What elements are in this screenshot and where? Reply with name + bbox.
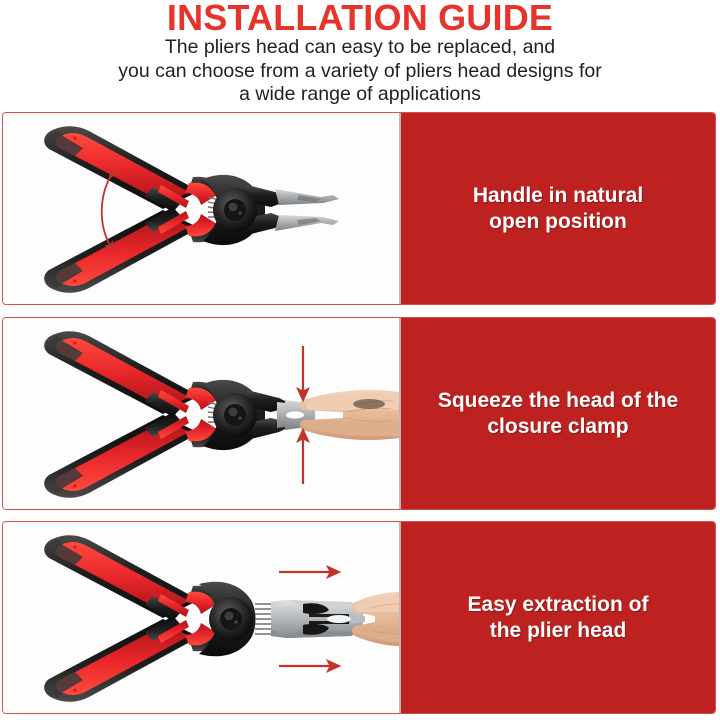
- caption-line-1: Easy extraction of: [468, 592, 649, 618]
- subtitle-line-3: a wide range of applications: [0, 83, 720, 107]
- step-3-caption-block: Easy extraction of the plier head: [399, 522, 715, 713]
- step-1-photo: [3, 113, 399, 304]
- step-2-caption-text: Squeeze the head of the closure clamp: [428, 388, 688, 440]
- step-3-caption-text: Easy extraction of the plier head: [458, 592, 659, 644]
- installation-guide-page: INSTALLATION GUIDE The pliers head can e…: [0, 0, 720, 720]
- detached-plier-head: [271, 600, 365, 638]
- step-2-caption-block: Squeeze the head of the closure clamp: [399, 318, 715, 509]
- caption-line-2: the plier head: [468, 618, 649, 644]
- lower-handle: [44, 412, 224, 498]
- pliers-squeeze-illustration: [3, 318, 399, 509]
- caption-line-1: Squeeze the head of the: [438, 388, 678, 414]
- step-panel-1: Handle in natural open position: [2, 112, 716, 305]
- header: INSTALLATION GUIDE The pliers head can e…: [0, 0, 720, 110]
- caption-line-2: open position: [473, 209, 643, 235]
- step-panel-2: Squeeze the head of the closure clamp: [2, 317, 716, 510]
- step-3-photo: [3, 522, 399, 713]
- caption-line-2: closure clamp: [438, 414, 678, 440]
- step-1-caption-block: Handle in natural open position: [399, 113, 715, 304]
- pliers-extraction-illustration: [3, 522, 399, 713]
- pliers-open-illustration: [3, 113, 399, 304]
- plier-head: [203, 380, 315, 450]
- upper-handle: [44, 535, 224, 621]
- step-panel-3: Easy extraction of the plier head: [2, 521, 716, 714]
- curved-double-arrow-icon: [102, 174, 112, 247]
- step-1-caption-text: Handle in natural open position: [463, 183, 653, 235]
- upper-handle: [44, 126, 224, 212]
- lower-handle: [44, 616, 224, 702]
- lower-handle: [44, 207, 224, 293]
- page-title: INSTALLATION GUIDE: [0, 0, 720, 38]
- step-2-photo: [3, 318, 399, 509]
- plier-head: [203, 175, 339, 245]
- subtitle-line-2: you can choose from a variety of pliers …: [0, 60, 720, 84]
- page-subtitle: The pliers head can easy to be replaced,…: [0, 36, 720, 107]
- upper-handle: [44, 331, 224, 417]
- pivot-spring: [255, 604, 271, 634]
- subtitle-line-1: The pliers head can easy to be replaced,…: [0, 36, 720, 60]
- caption-line-1: Handle in natural: [473, 183, 643, 209]
